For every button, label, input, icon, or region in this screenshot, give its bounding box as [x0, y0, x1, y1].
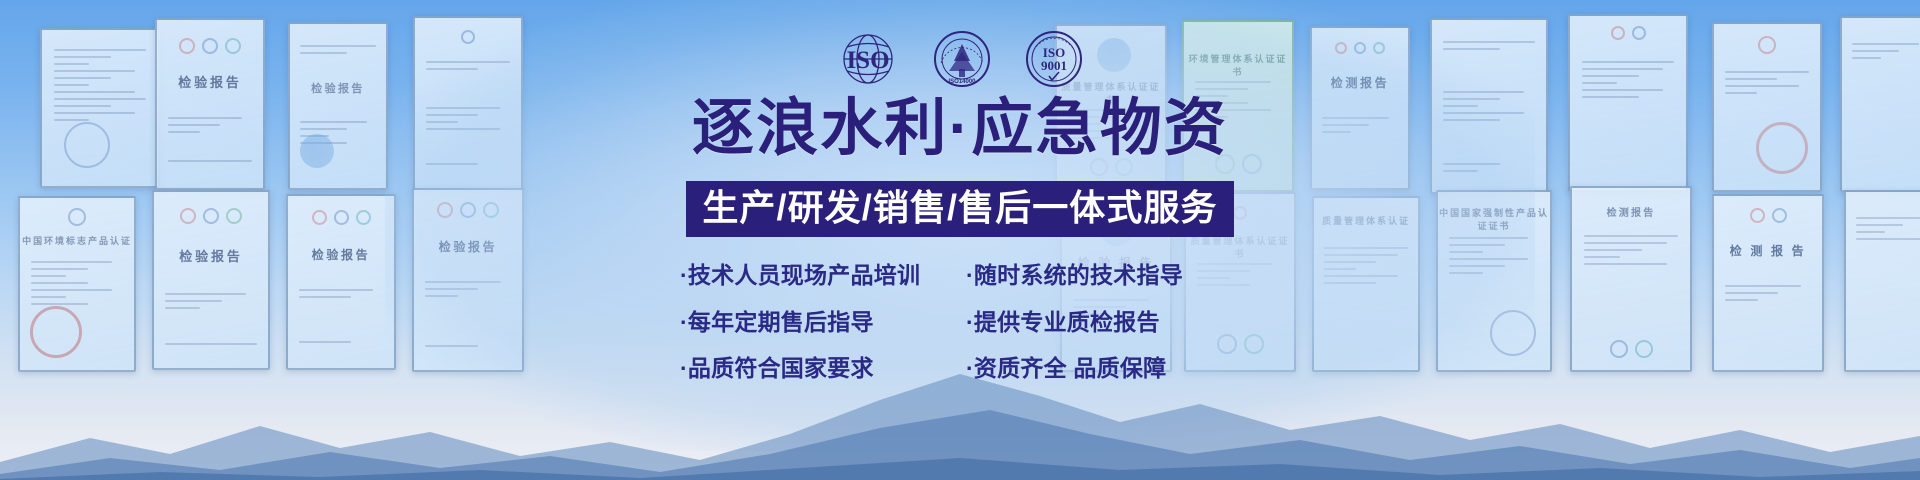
iso-9001-number: 9001	[1041, 58, 1067, 73]
iso-14000-environment-icon: ISO14000	[933, 30, 991, 88]
promo-banner: 检验报告 检验报告 质量管理体系认证证书 环境管理体系认证证书	[0, 0, 1920, 480]
subtitle-bar: 生产/研发/销售/售后一体式服务	[686, 181, 1233, 237]
feature-item-qualified: ·资质齐全 品质保障	[966, 356, 1240, 381]
iso-globe-label: ISO	[846, 47, 889, 74]
feature-item-aftersales: ·每年定期售后指导	[680, 310, 954, 335]
certificate-card: 检验报告	[288, 22, 388, 190]
main-title: 逐浪水利·应急物资	[610, 96, 1310, 163]
svg-text:ISO14000: ISO14000	[948, 79, 976, 85]
certificate-title: 检测报告	[1312, 74, 1408, 91]
certificate-title: 检验报告	[288, 246, 394, 263]
feature-item-training: ·技术人员现场产品培训	[680, 263, 954, 288]
certificate-title: 检验报告	[157, 72, 263, 91]
feature-item-guidance: ·随时系统的技术指导	[966, 263, 1240, 288]
certificate-card	[1712, 22, 1822, 192]
certificate-card	[1840, 16, 1920, 192]
certificate-card	[1430, 18, 1548, 194]
certificate-card: 检验报告	[155, 18, 265, 190]
feature-item-national-std: ·品质符合国家要求	[680, 356, 954, 381]
iso-9001-icon: ISO 9001	[1025, 30, 1083, 88]
feature-list: ·技术人员现场产品培训 ·随时系统的技术指导 ·每年定期售后指导 ·提供专业质检…	[680, 263, 1240, 381]
certification-badges: ISO ISO14000 ISO 9001	[837, 30, 1083, 88]
feature-item-qc-report: ·提供专业质检报告	[966, 310, 1240, 335]
certificate-title: 检验报告	[154, 246, 268, 265]
iso-globe-icon: ISO	[837, 31, 899, 87]
certificate-title: 检验报告	[414, 238, 522, 255]
banner-text-block: 逐浪水利·应急物资 生产/研发/销售/售后一体式服务 ·技术人员现场产品培训 ·…	[610, 96, 1310, 381]
certificate-card	[1568, 14, 1688, 192]
certificate-card: 检测报告	[1310, 26, 1410, 190]
certificate-card	[413, 16, 523, 192]
certificate-card	[40, 28, 160, 188]
